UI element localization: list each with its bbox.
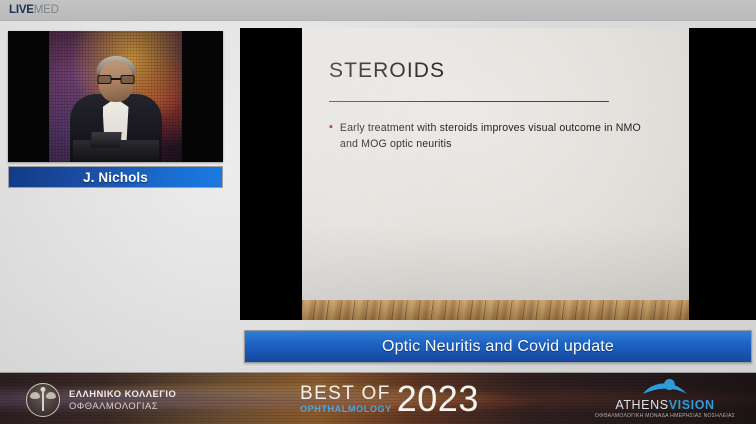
- event-year-label: 2023: [397, 382, 479, 416]
- emblem-wing-right: [46, 392, 56, 399]
- glasses-bridge: [111, 78, 120, 80]
- ophthalmology-label: OPHTHALMOLOGY: [300, 405, 392, 414]
- slide-video-panel[interactable]: STEROIDS ▪ Early treatment with steroids…: [240, 28, 756, 320]
- hellenic-college-line2: ΟΦΘΑΛΜΟΛΟΓΙΑΣ: [69, 400, 176, 412]
- session-title-banner: Optic Neuritis and Covid update: [244, 330, 752, 363]
- lectern: [73, 140, 159, 162]
- slide-bullet-text: Early treatment with steroids improves v…: [340, 120, 659, 152]
- sponsor-hellenic-college[interactable]: ΕΛΛΗΝΙΚΟ ΚΟΛΛΕΓΙΟ ΟΦΘΑΛΜΟΛΟΓΙΑΣ: [26, 383, 176, 417]
- athens-vision-name: ATHENSVISION: [590, 398, 740, 412]
- slide-bullet-item: ▪ Early treatment with steroids improves…: [329, 120, 659, 152]
- speaker-name-banner: J. Nichols: [8, 166, 223, 188]
- hellenic-college-line1: ΕΛΛΗΝΙΚΟ ΚΟΛΛΕΓΙΟ: [69, 388, 176, 400]
- app-header: LIVEMED: [0, 0, 756, 21]
- emblem-caduceus-rod: [42, 389, 44, 411]
- best-of-label: BEST OF: [300, 384, 392, 403]
- slide-title: STEROIDS: [329, 59, 445, 83]
- speaker-name-label: J. Nichols: [83, 170, 148, 185]
- athens-vision-name-part2: VISION: [669, 398, 715, 412]
- presentation-screen: STEROIDS ▪ Early treatment with steroids…: [302, 28, 689, 300]
- speaker-video-panel[interactable]: [8, 31, 223, 162]
- wooden-stage-floor: [302, 300, 689, 320]
- laptop-icon: [90, 132, 121, 148]
- eyeglasses-icon: [97, 75, 134, 84]
- emblem-wing-left: [30, 392, 40, 399]
- glasses-lens-left: [97, 75, 111, 84]
- hellenic-college-emblem-icon: [26, 383, 60, 417]
- sponsor-best-of-ophthalmology[interactable]: BEST OF OPHTHALMOLOGY 2023: [300, 382, 479, 416]
- bullet-marker-icon: ▪: [329, 120, 333, 135]
- slide-divider-rule: [329, 101, 609, 102]
- athens-vision-subtitle: ΟΦΘΑΛΜΟΛΟΓΙΚΗ ΜΟΝΑΔΑ ΗΜΕΡΗΣΙΑΣ ΝΟΣΗΛΕΙΑΣ: [590, 413, 740, 420]
- best-of-text-block: BEST OF OPHTHALMOLOGY: [300, 384, 392, 414]
- glasses-lens-right: [120, 75, 134, 84]
- athens-vision-pupil-dot: [664, 379, 675, 390]
- sponsor-footer-band: ΕΛΛΗΝΙΚΟ ΚΟΛΛΕΓΙΟ ΟΦΘΑΛΜΟΛΟΓΙΑΣ BEST OF …: [0, 372, 756, 424]
- logo-text-live: LIVE: [9, 4, 34, 16]
- slide-letterbox-right: [689, 28, 756, 320]
- logo-text-med: MED: [34, 4, 59, 16]
- athens-vision-eye-icon: [590, 379, 740, 397]
- sponsor-athens-vision[interactable]: ATHENSVISION ΟΦΘΑΛΜΟΛΟΓΙΚΗ ΜΟΝΑΔΑ ΗΜΕΡΗΣ…: [590, 379, 740, 420]
- video-letterbox-left: [8, 31, 49, 162]
- athens-vision-name-part1: ATHENS: [615, 398, 668, 412]
- livemed-logo[interactable]: LIVEMED: [9, 4, 59, 17]
- session-title-label: Optic Neuritis and Covid update: [382, 338, 614, 356]
- livemed-webinar-player: LIVEMED J. Nichols STEROIDS: [0, 0, 756, 424]
- hellenic-college-text: ΕΛΛΗΝΙΚΟ ΚΟΛΛΕΓΙΟ ΟΦΘΑΛΜΟΛΟΓΙΑΣ: [69, 388, 176, 412]
- slide-letterbox-left: [240, 28, 302, 320]
- video-letterbox-right: [182, 31, 223, 162]
